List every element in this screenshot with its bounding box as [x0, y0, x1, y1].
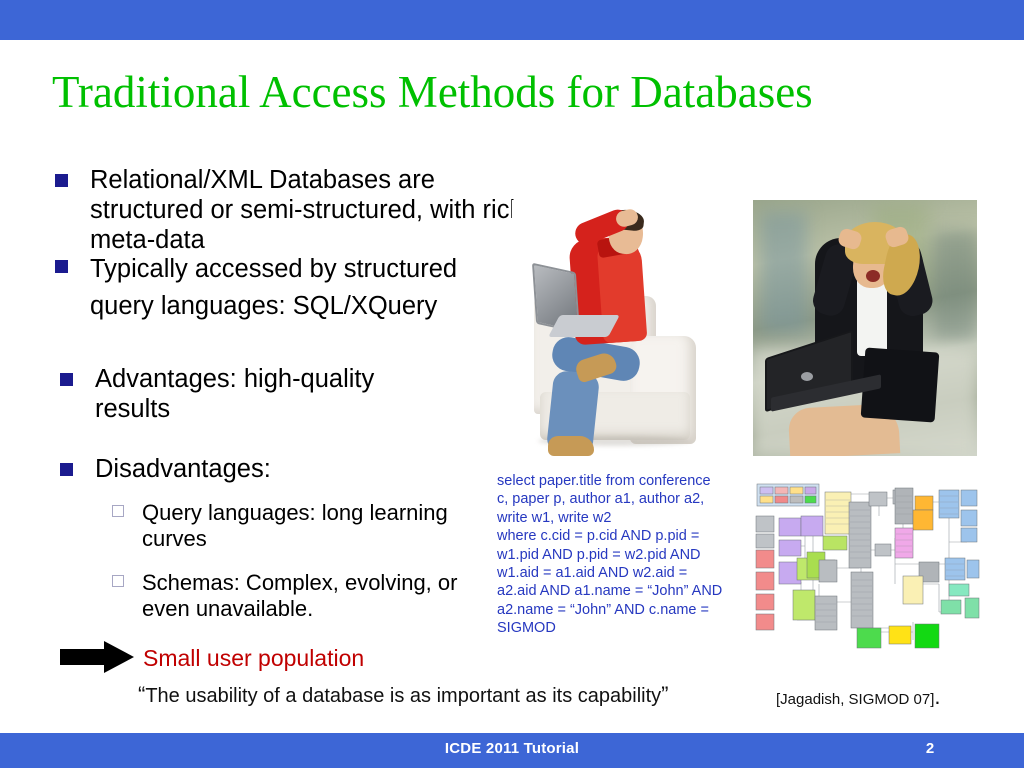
- quote-text: The usability of a database is as import…: [145, 685, 661, 707]
- bullet-item-4-label: Disadvantages:: [95, 455, 271, 483]
- square-bullet-icon: [55, 174, 68, 187]
- photo-frustrated-man-with-laptop: [512, 200, 712, 465]
- square-bullet-icon: [60, 463, 73, 476]
- quote-close-mark: ”: [661, 682, 668, 707]
- hollow-square-bullet-icon: [112, 505, 124, 517]
- bullet-item-2-label: Typically accessed by structured query l…: [90, 255, 457, 320]
- bullet-item-3: Advantages: high-quality results: [95, 364, 425, 424]
- sub-bullet-item-2: Schemas: Complex, evolving, or even unav…: [142, 570, 487, 623]
- square-bullet-icon: [60, 373, 73, 386]
- bullet-item-2: Typically accessed by structured query l…: [90, 251, 510, 325]
- footer-title: ICDE 2011 Tutorial: [0, 740, 1024, 757]
- sql-line: w1.aid = a1.aid AND w2.aid =: [497, 564, 743, 582]
- bullet-item-1: Relational/XML Databases are structured …: [90, 165, 530, 255]
- sql-line: w1.pid AND p.pid = w2.pid AND: [497, 546, 743, 564]
- bullet-item-1-label: Relational/XML Databases are structured …: [90, 166, 524, 254]
- bullet-item-4: Disadvantages:: [95, 454, 425, 484]
- bullet-item-3-label: Advantages: high-quality results: [95, 365, 374, 423]
- photo-frustrated-woman-with-laptop: [753, 200, 977, 456]
- citation: [Jagadish, SIGMOD 07].: [776, 684, 941, 710]
- sql-line: write w1, write w2: [497, 509, 743, 527]
- sql-line: where c.cid = p.cid AND p.pid =: [497, 527, 743, 545]
- citation-period: .: [934, 684, 940, 709]
- sub-bullet-item-1-label: Query languages: long learning curves: [142, 500, 448, 551]
- sql-line: c, paper p, author a1, author a2,: [497, 490, 743, 508]
- sql-line: SIGMOD: [497, 619, 743, 637]
- hollow-square-bullet-icon: [112, 575, 124, 587]
- quote-line: “The usability of a database is as impor…: [138, 682, 668, 708]
- sub-bullet-item-2-label: Schemas: Complex, evolving, or even unav…: [142, 570, 457, 621]
- sql-line: a2.name = “John” AND c.name =: [497, 601, 743, 619]
- complex-database-schema-diagram: [753, 472, 981, 656]
- sql-query-example: select paper.title from conference c, pa…: [497, 472, 743, 638]
- header-accent-bar: [0, 0, 1024, 40]
- slide-canvas: Traditional Access Methods for Databases…: [0, 0, 1024, 768]
- sql-line: a2.aid AND a1.name = “John” AND: [497, 582, 743, 600]
- citation-text: [Jagadish, SIGMOD 07]: [776, 691, 934, 708]
- sql-line: select paper.title from conference: [497, 472, 743, 490]
- square-bullet-icon: [55, 260, 68, 273]
- right-arrow-icon: [60, 641, 134, 673]
- page-title: Traditional Access Methods for Databases: [52, 66, 813, 118]
- callout-text: Small user population: [143, 645, 364, 672]
- footer-page-number: 2: [900, 740, 960, 757]
- sub-bullet-item-1: Query languages: long learning curves: [142, 500, 482, 553]
